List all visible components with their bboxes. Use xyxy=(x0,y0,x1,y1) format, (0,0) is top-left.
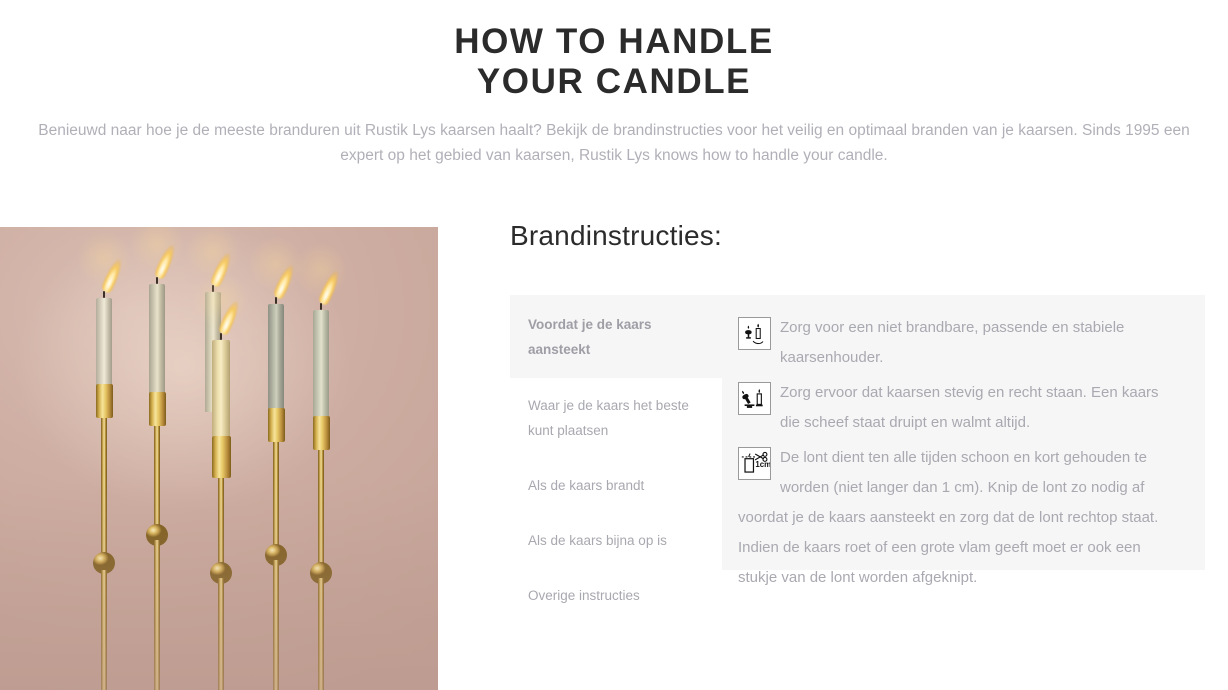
tab-overige-instructies[interactable]: Overige instructies xyxy=(510,568,722,623)
page-title-line-2: YOUR CANDLE xyxy=(0,62,1228,102)
candle-in-stable-holder-icon xyxy=(738,317,771,350)
tab-label: Waar je de kaars het beste kunt plaatsen xyxy=(528,398,689,438)
tab-als-de-kaars-brandt[interactable]: Als de kaars brandt xyxy=(510,458,722,513)
instruction-text: De lont dient ten alle tijden schoon en … xyxy=(738,443,1181,593)
tab-voordat-je-de-kaars-aansteekt[interactable]: Voordat je de kaars aansteekt xyxy=(510,295,722,378)
section-title: Brandinstructies: xyxy=(510,219,1228,253)
page-root: HOW TO HANDLE YOUR CANDLE Benieuwd naar … xyxy=(0,0,1228,690)
tab-label: Overige instructies xyxy=(528,588,640,603)
page-subtitle: Benieuwd naar hoe je de meeste branduren… xyxy=(16,118,1212,168)
tab-als-de-kaars-bijna-op-is[interactable]: Als de kaars bijna op is xyxy=(510,513,722,568)
page-title-line-1: HOW TO HANDLE xyxy=(0,22,1228,62)
instruction-item: Zorg ervoor dat kaarsen stevig en recht … xyxy=(738,378,1181,438)
tab-panel-content: Zorg voor een niet brandbare, passende e… xyxy=(722,295,1205,570)
candle-upright-not-tilted-icon xyxy=(738,382,771,415)
tab-label: Als de kaars brandt xyxy=(528,478,644,493)
photo-bottom-shade xyxy=(0,227,438,690)
brandinstructies-tabs-panel: Voordat je de kaars aansteekt Waar je de… xyxy=(510,295,1205,570)
instruction-item: Zorg voor een niet brandbare, passende e… xyxy=(738,313,1181,373)
trim-wick-scissors-1cm-icon: 1cm xyxy=(738,447,771,480)
candle-photo xyxy=(0,227,438,690)
tab-list: Voordat je de kaars aansteekt Waar je de… xyxy=(510,295,722,570)
instruction-text: Zorg ervoor dat kaarsen stevig en recht … xyxy=(738,378,1181,438)
hero-section: HOW TO HANDLE YOUR CANDLE Benieuwd naar … xyxy=(0,0,1228,168)
main-split: Brandinstructies: Voordat je de kaars aa… xyxy=(0,227,1228,690)
tab-waar-je-de-kaars-het-beste-kunt-plaatsen[interactable]: Waar je de kaars het beste kunt plaatsen xyxy=(510,378,722,458)
instruction-item: 1cm De lont dient ten alle tijden schoon… xyxy=(738,443,1181,593)
tab-label: Voordat je de kaars aansteekt xyxy=(528,317,652,357)
page-title: HOW TO HANDLE YOUR CANDLE xyxy=(0,22,1228,102)
instructions-section: Brandinstructies: Voordat je de kaars aa… xyxy=(510,227,1228,690)
svg-text:1cm: 1cm xyxy=(755,460,770,469)
instruction-list: Zorg voor een niet brandbare, passende e… xyxy=(738,313,1181,593)
instruction-text: Zorg voor een niet brandbare, passende e… xyxy=(738,313,1181,373)
tab-label: Als de kaars bijna op is xyxy=(528,533,667,548)
